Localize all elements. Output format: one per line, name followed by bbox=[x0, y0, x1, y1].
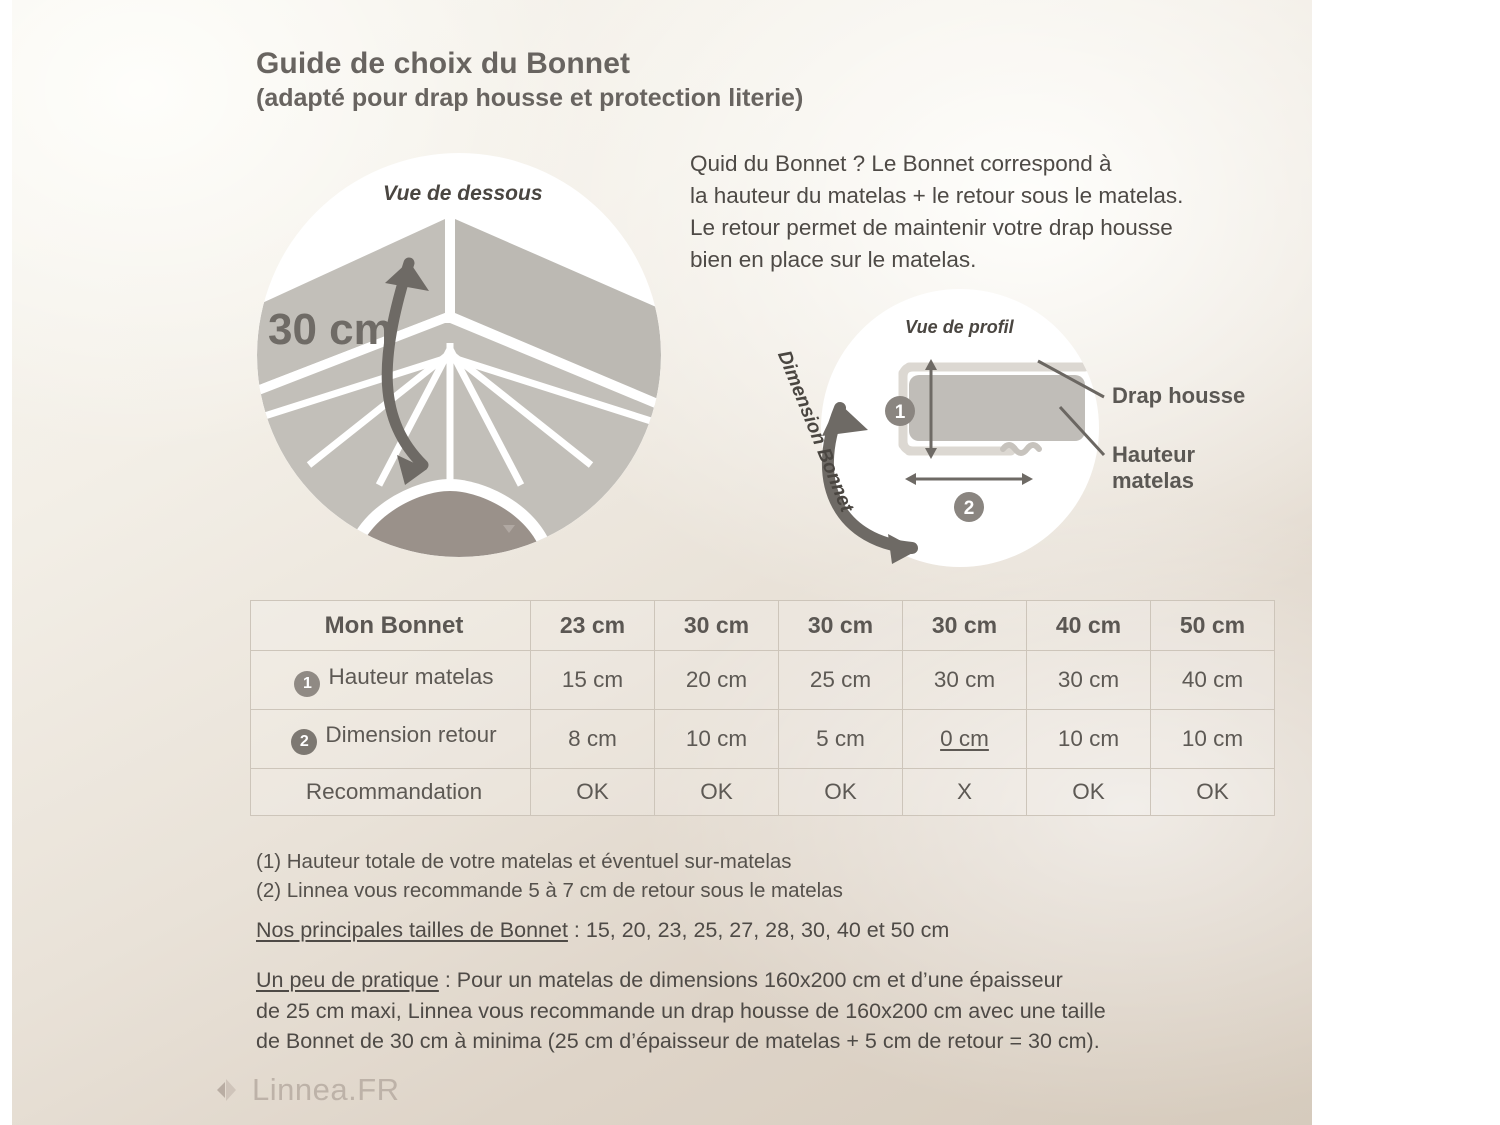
practical-line-3: de Bonnet de 30 cm à minima (25 cm d’épa… bbox=[256, 1026, 1256, 1057]
footnote-2: (2) Linnea vous recommande 5 à 7 cm de r… bbox=[256, 877, 843, 905]
practical-line-1-text: : Pour un matelas de dimensions 160x200 … bbox=[439, 968, 1063, 992]
table-cell-bonnet-2: 30 cm bbox=[779, 601, 903, 651]
page-subtitle: (adapté pour drap housse et protection l… bbox=[256, 84, 1156, 114]
table-cell-bonnet-0: 23 cm bbox=[531, 601, 655, 651]
table-label-dimension-retour: 2Dimension retour bbox=[251, 710, 531, 769]
bottom-view-illustration bbox=[257, 153, 661, 557]
table-row-retour: 2Dimension retour 8 cm 10 cm 5 cm 0 cm 1… bbox=[251, 710, 1275, 769]
table-cell-retour-2: 5 cm bbox=[779, 710, 903, 769]
table-label-hauteur-text: Hauteur matelas bbox=[328, 664, 493, 689]
intro-line-2: la hauteur du matelas + le retour sous l… bbox=[690, 180, 1270, 212]
diamond-icon bbox=[212, 1076, 240, 1104]
diagram-bottom-view: Vue de dessous 30 cm bbox=[257, 153, 661, 557]
table-cell-retour-0: 8 cm bbox=[531, 710, 655, 769]
bottom-view-caption: Vue de dessous bbox=[383, 182, 543, 206]
table-cell-bonnet-5: 50 cm bbox=[1151, 601, 1275, 651]
table-cell-bonnet-1: 30 cm bbox=[655, 601, 779, 651]
table-cell-reco-0: OK bbox=[531, 768, 655, 815]
table-cell-reco-3: X bbox=[903, 768, 1027, 815]
table-cell-hauteur-0: 15 cm bbox=[531, 651, 655, 710]
practical-label: Un peu de pratique bbox=[256, 968, 439, 992]
table-cell-bonnet-4: 40 cm bbox=[1027, 601, 1151, 651]
table-cell-bonnet-3: 30 cm bbox=[903, 601, 1027, 651]
label-hauteur-line-2: matelas bbox=[1112, 468, 1195, 494]
table-cell-retour-1: 10 cm bbox=[655, 710, 779, 769]
table-cell-hauteur-5: 40 cm bbox=[1151, 651, 1275, 710]
table-cell-retour-4: 10 cm bbox=[1027, 710, 1151, 769]
table-cell-hauteur-4: 30 cm bbox=[1027, 651, 1151, 710]
table-cell-hauteur-3: 30 cm bbox=[903, 651, 1027, 710]
practical-example: Un peu de pratique : Pour un matelas de … bbox=[256, 965, 1256, 1057]
brand-logo-text: Linnea.FR bbox=[252, 1072, 400, 1108]
footnote-1: (1) Hauteur totale de votre matelas et é… bbox=[256, 848, 792, 876]
practical-line-2: de 25 cm maxi, Linnea vous recommande un… bbox=[256, 996, 1256, 1027]
table-cell-reco-4: OK bbox=[1027, 768, 1151, 815]
table-label-hauteur-matelas: 1Hauteur matelas bbox=[251, 651, 531, 710]
header: Guide de choix du Bonnet (adapté pour dr… bbox=[256, 46, 1156, 114]
badge-1: 1 bbox=[294, 671, 320, 697]
practical-line-1: Un peu de pratique : Pour un matelas de … bbox=[256, 965, 1256, 996]
table-cell-reco-1: OK bbox=[655, 768, 779, 815]
bonnet-table: Mon Bonnet 23 cm 30 cm 30 cm 30 cm 40 cm… bbox=[250, 600, 1246, 816]
table-row-recommandation: Recommandation OK OK OK X OK OK bbox=[251, 768, 1275, 815]
table-header-label: Mon Bonnet bbox=[251, 601, 531, 651]
table-cell-reco-5: OK bbox=[1151, 768, 1275, 815]
table-label-retour-text: Dimension retour bbox=[325, 722, 496, 747]
bottom-view-measure-label: 30 cm bbox=[268, 305, 393, 355]
table-row-hauteur: 1Hauteur matelas 15 cm 20 cm 25 cm 30 cm… bbox=[251, 651, 1275, 710]
sizes-value: : 15, 20, 23, 25, 27, 28, 30, 40 et 50 c… bbox=[568, 918, 949, 942]
intro-paragraph: Quid du Bonnet ? Le Bonnet correspond à … bbox=[690, 148, 1270, 276]
sizes-line: Nos principales tailles de Bonnet : 15, … bbox=[256, 918, 949, 943]
table-cell-retour-5: 10 cm bbox=[1151, 710, 1275, 769]
table-cell-retour-3-value: 0 cm bbox=[940, 726, 989, 751]
label-hauteur-line-1: Hauteur bbox=[1112, 442, 1195, 468]
sizes-label: Nos principales tailles de Bonnet bbox=[256, 918, 568, 942]
table-label-recommandation: Recommandation bbox=[251, 768, 531, 815]
brand-logo[interactable]: Linnea.FR bbox=[212, 1072, 400, 1108]
table-cell-hauteur-1: 20 cm bbox=[655, 651, 779, 710]
table-row-header: Mon Bonnet 23 cm 30 cm 30 cm 30 cm 40 cm… bbox=[251, 601, 1275, 651]
badge-2: 2 bbox=[291, 729, 317, 755]
infographic-canvas: Guide de choix du Bonnet (adapté pour dr… bbox=[0, 0, 1500, 1125]
intro-line-4: bien en place sur le matelas. bbox=[690, 244, 1270, 276]
table-cell-retour-3: 0 cm bbox=[903, 710, 1027, 769]
label-drap-housse: Drap housse bbox=[1112, 383, 1245, 409]
intro-line-3: Le retour permet de maintenir votre drap… bbox=[690, 212, 1270, 244]
page-title: Guide de choix du Bonnet bbox=[256, 46, 1156, 81]
table-cell-hauteur-2: 25 cm bbox=[779, 651, 903, 710]
intro-line-1: Quid du Bonnet ? Le Bonnet correspond à bbox=[690, 148, 1270, 180]
label-hauteur-matelas: Hauteur matelas bbox=[1112, 442, 1195, 495]
table-cell-reco-2: OK bbox=[779, 768, 903, 815]
